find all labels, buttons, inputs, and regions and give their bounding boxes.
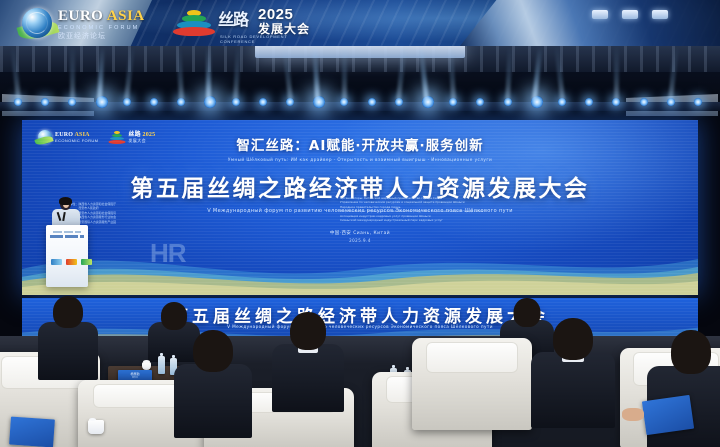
mark-silkroad-text: 丝路: [218, 6, 248, 30]
slogan-chinese: 智汇丝路：AI赋能·开放共赢·服务创新: [22, 134, 698, 154]
tea-cup: [142, 362, 151, 370]
podium-sponsor-logos: [51, 259, 92, 265]
person-torso: [531, 352, 615, 428]
document-folder: [9, 416, 55, 447]
light-beam: [342, 46, 347, 100]
light-beam: [206, 46, 211, 100]
audience-member: [38, 296, 98, 366]
mark-english-text: SILK ROAD DEVELOPMENT CONFERENCE: [220, 34, 320, 44]
person-torso: [38, 322, 98, 380]
person-torso: [272, 344, 344, 412]
logo-asia-text: ASIA: [107, 8, 145, 24]
slogan-russian: Умный Шёлковый путь: ИИ как драйвер · От…: [22, 157, 698, 162]
stage-light: [259, 98, 267, 106]
logo-subtitle-en: ECONOMIC FORUM: [58, 24, 145, 32]
podium-text-line-1: [53, 231, 81, 233]
banner-light-1: [592, 10, 608, 19]
logo-euro-text: EURO: [58, 8, 103, 24]
conference-hall-photo: EURO ASIA ECONOMIC FORUM 欧亚经济论坛 丝路 2025 …: [0, 0, 720, 447]
banner-light-3: [652, 10, 668, 19]
audience-member: [276, 312, 340, 400]
organizers-russian: Организаторы: Китайский народный правите…: [340, 196, 483, 222]
ceiling-rig: [0, 46, 720, 120]
armchair: [412, 338, 532, 430]
stage-light: [368, 98, 376, 106]
organizer-line: Сианьский международный индустриальный п…: [340, 218, 483, 222]
podium-logo-1: [51, 259, 62, 265]
organizer-line: Соорганизаторы: Управление по человеческ…: [340, 209, 483, 213]
euro-asia-forum-logo: EURO ASIA ECONOMIC FORUM 欧亚经济论坛: [22, 6, 154, 40]
person-head: [290, 312, 326, 350]
water-bottle: [158, 356, 165, 374]
podium-text-line-2: [50, 235, 84, 238]
person-head: [553, 318, 593, 360]
person-head: [53, 296, 83, 328]
person-head: [514, 298, 541, 327]
person-head: [193, 330, 233, 372]
logo-subtitle-cn: 欧亚经济论坛: [58, 32, 145, 41]
light-beam: [614, 46, 619, 100]
banner-light-2: [622, 10, 638, 19]
stage-light: [150, 98, 158, 106]
wave-graphic: [22, 225, 698, 295]
audience-member: [538, 318, 608, 414]
white-podium: [46, 225, 88, 287]
speaker-hair: [59, 197, 72, 205]
podium-logo-2: [66, 259, 77, 265]
document-folder: [642, 395, 694, 435]
podium-logo-3: [81, 259, 92, 265]
podium-area: [36, 198, 98, 292]
stage-light: [640, 98, 648, 106]
tea-cup: [88, 420, 104, 434]
light-beam: [70, 46, 75, 100]
conference-mark: 丝路 2025 发展大会 SILK ROAD DEVELOPMENT CONFE…: [172, 4, 320, 42]
hand: [622, 408, 644, 421]
chair-doily: [426, 342, 517, 373]
pagoda-emblem-icon: [172, 10, 216, 36]
person-head: [161, 302, 187, 330]
person-head: [671, 330, 711, 374]
stage-light: [694, 98, 702, 106]
main-led-screen: EURO ASIA ECONOMIC FORUM 丝路 2025 发展大会: [22, 120, 698, 295]
audience-member: [178, 330, 248, 426]
globe-icon: [22, 8, 52, 38]
banner-right-panel: [460, 0, 720, 46]
overhead-banner: EURO ASIA ECONOMIC FORUM 欧亚经济论坛 丝路 2025 …: [0, 0, 720, 46]
person-torso: [174, 364, 252, 438]
